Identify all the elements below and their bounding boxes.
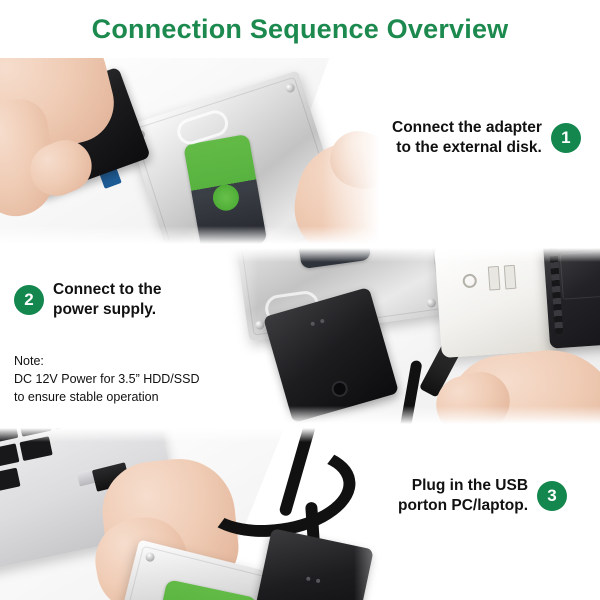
- usb-port-icon: [504, 265, 517, 290]
- step-1-photo: [0, 58, 392, 244]
- step-1-badge: 1: [551, 123, 581, 153]
- step-1-caption: Connect the adapter to the external disk…: [392, 118, 581, 158]
- step-panel-1: Connect the adapter to the external disk…: [0, 58, 600, 244]
- step-panel-3: Plug in the USB porton PC/laptop. 3: [0, 428, 600, 600]
- step-2-caption: 2 Connect to the power supply.: [14, 280, 162, 320]
- step-3-badge: 3: [537, 481, 567, 511]
- step-3-text: Plug in the USB porton PC/laptop.: [398, 476, 528, 516]
- panel-divider: [0, 424, 600, 428]
- power-adapter-brick: [542, 248, 600, 349]
- step-3-caption: Plug in the USB porton PC/laptop. 3: [398, 476, 567, 516]
- usb-port-icon: [488, 266, 501, 291]
- step-3-photo: [0, 428, 424, 600]
- step-1-text: Connect the adapter to the external disk…: [392, 118, 542, 158]
- usb-charging-hub: [434, 248, 562, 358]
- panel-divider: [0, 244, 600, 248]
- page-header: Connection Sequence Overview: [0, 0, 600, 58]
- infographic-page: Connection Sequence Overview: [0, 0, 600, 600]
- dc-socket-icon: [462, 273, 477, 288]
- page-title: Connection Sequence Overview: [92, 14, 509, 45]
- step-2-badge: 2: [14, 285, 44, 315]
- step-2-note: Note: DC 12V Power for 3.5” HDD/SSD to e…: [14, 352, 199, 406]
- step-2-photo: [198, 248, 600, 424]
- step-2-text: Connect to the power supply.: [53, 280, 162, 320]
- step-panel-2: 2 Connect to the power supply. Note: DC …: [0, 248, 600, 424]
